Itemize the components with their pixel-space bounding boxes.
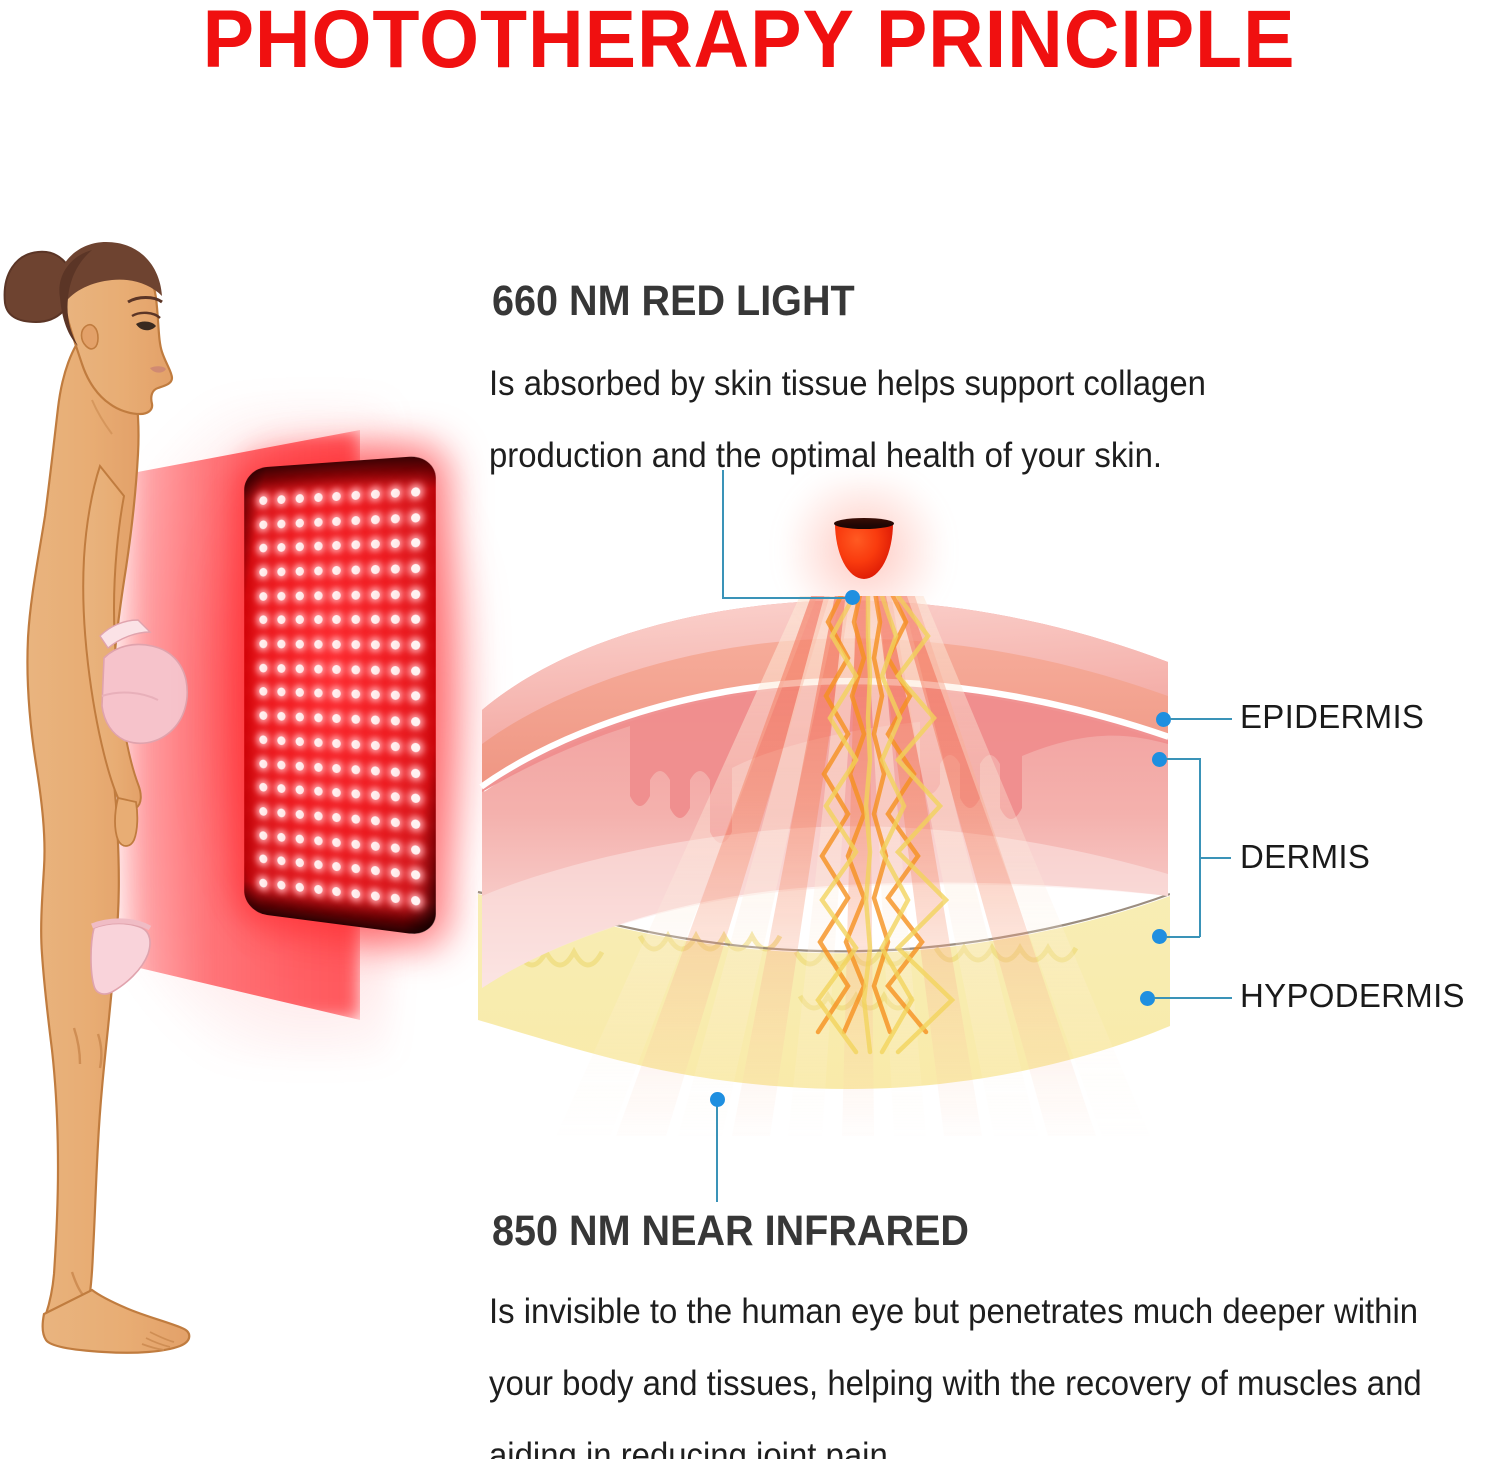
led-dot bbox=[411, 538, 420, 548]
led-dot bbox=[371, 514, 380, 524]
led-dot bbox=[277, 640, 285, 649]
led-dot bbox=[333, 739, 342, 748]
led-dot bbox=[352, 615, 361, 624]
led-dot bbox=[260, 496, 268, 505]
led-dot bbox=[333, 615, 342, 624]
led-dot bbox=[371, 841, 380, 851]
led-dot bbox=[277, 688, 285, 697]
led-dot bbox=[391, 564, 400, 573]
led-dot bbox=[411, 717, 420, 727]
led-dot bbox=[314, 640, 322, 649]
led-dot bbox=[333, 837, 342, 847]
led-dot bbox=[314, 566, 322, 575]
led-dot bbox=[314, 542, 322, 551]
label-hypodermis: HYPODERMIS bbox=[1240, 978, 1465, 1014]
led-dot bbox=[277, 616, 285, 625]
led-dot bbox=[296, 591, 304, 600]
led-dot bbox=[296, 737, 304, 746]
skin-cross-section-diagram bbox=[470, 596, 1170, 1156]
led-dot bbox=[296, 494, 304, 503]
led-dot bbox=[352, 765, 361, 775]
led-dot bbox=[411, 845, 420, 855]
led-dot bbox=[277, 808, 285, 817]
led-dot bbox=[352, 540, 361, 549]
led-dot bbox=[277, 543, 285, 552]
led-dot bbox=[371, 891, 380, 901]
led-dot bbox=[260, 878, 268, 888]
led-dot bbox=[391, 868, 400, 878]
led-dot bbox=[352, 490, 361, 500]
red-light-led-panel bbox=[236, 462, 448, 932]
led-dot bbox=[371, 590, 380, 599]
led-dot bbox=[314, 787, 322, 797]
label-epidermis: EPIDERMIS bbox=[1240, 699, 1424, 735]
led-dot bbox=[391, 615, 400, 624]
led-dot bbox=[371, 741, 380, 751]
led-dot bbox=[391, 590, 400, 599]
led-dot bbox=[333, 763, 342, 773]
led-dot bbox=[296, 688, 304, 697]
paragraph-850nm-near-infrared: Is invisible to the human eye but penetr… bbox=[489, 1276, 1438, 1459]
led-dot bbox=[277, 591, 285, 600]
callout-dot-epidermis bbox=[1156, 712, 1171, 727]
led-dot bbox=[411, 692, 420, 702]
led-dot bbox=[352, 789, 361, 799]
led-dot bbox=[352, 839, 361, 849]
heading-660nm-red-light: 660 NM RED LIGHT bbox=[492, 278, 855, 324]
led-dot bbox=[352, 640, 361, 649]
led-dot bbox=[411, 564, 420, 574]
led-panel-body bbox=[244, 455, 436, 937]
label-dermis: DERMIS bbox=[1240, 839, 1370, 875]
led-dot bbox=[411, 768, 420, 778]
led-dot bbox=[333, 813, 342, 823]
led-dot-grid bbox=[255, 478, 426, 914]
led-dot bbox=[391, 716, 400, 726]
led-dot bbox=[296, 542, 304, 551]
led-dot bbox=[314, 689, 322, 698]
led-dot bbox=[260, 544, 268, 553]
led-dot bbox=[352, 590, 361, 599]
led-dot bbox=[333, 862, 342, 872]
lamp-bowl bbox=[835, 523, 893, 579]
led-dot bbox=[391, 539, 400, 549]
led-dot bbox=[411, 641, 420, 650]
led-dot bbox=[296, 567, 304, 576]
led-dot bbox=[352, 715, 361, 724]
led-dot bbox=[333, 492, 342, 501]
heading-850nm-near-infrared: 850 NM NEAR INFRARED bbox=[492, 1208, 969, 1254]
lamp-icon bbox=[834, 518, 894, 580]
led-dot bbox=[277, 880, 285, 890]
callout-dot-dermis-bottom bbox=[1152, 929, 1167, 944]
led-dot bbox=[260, 759, 268, 768]
led-dot bbox=[260, 568, 268, 577]
led-dot bbox=[411, 666, 420, 675]
led-dot bbox=[260, 663, 268, 672]
led-dot bbox=[352, 864, 361, 874]
led-dot bbox=[260, 687, 268, 696]
led-dot bbox=[411, 896, 420, 906]
leader-line-dermis-bottom bbox=[1166, 936, 1200, 938]
led-dot bbox=[391, 742, 400, 752]
led-dot bbox=[314, 493, 322, 502]
led-dot bbox=[296, 810, 304, 820]
led-dot bbox=[391, 843, 400, 853]
led-dot bbox=[371, 816, 380, 826]
leader-line-dermis-stub bbox=[1199, 857, 1231, 859]
led-dot bbox=[391, 767, 400, 777]
led-dot bbox=[352, 665, 361, 674]
callout-dot-dermis-top bbox=[1152, 752, 1167, 767]
leader-line-hypodermis bbox=[1154, 997, 1232, 999]
leader-line-660nm-horizontal bbox=[722, 597, 852, 599]
led-dot bbox=[314, 738, 322, 747]
led-dot bbox=[260, 592, 268, 601]
led-dot bbox=[371, 690, 380, 699]
led-dot bbox=[314, 615, 322, 624]
led-dot bbox=[411, 487, 420, 497]
led-dot bbox=[260, 711, 268, 720]
led-dot bbox=[333, 541, 342, 550]
phototherapy-principle-infographic: PHOTOTHERAPY PRINCIPLE bbox=[0, 0, 1498, 1459]
led-dot bbox=[391, 513, 400, 523]
led-dot bbox=[333, 640, 342, 649]
led-dot bbox=[411, 870, 420, 880]
led-dot bbox=[371, 766, 380, 776]
led-dot bbox=[352, 814, 361, 824]
led-dot bbox=[333, 689, 342, 698]
leader-line-epidermis bbox=[1170, 718, 1232, 720]
led-dot bbox=[333, 566, 342, 575]
led-dot bbox=[314, 860, 322, 870]
led-dot bbox=[411, 513, 420, 523]
lamp-rim bbox=[834, 518, 894, 529]
led-dot bbox=[277, 567, 285, 576]
led-dot bbox=[277, 784, 285, 793]
callout-dot-hypodermis bbox=[1140, 991, 1155, 1006]
led-dot bbox=[333, 591, 342, 600]
led-dot bbox=[296, 883, 304, 893]
led-dot bbox=[296, 616, 304, 625]
led-dot bbox=[391, 792, 400, 802]
led-dot bbox=[333, 788, 342, 798]
leader-line-850nm-vertical bbox=[716, 1102, 718, 1202]
led-dot bbox=[371, 665, 380, 674]
led-dot bbox=[391, 817, 400, 827]
led-dot bbox=[296, 664, 304, 673]
led-dot bbox=[371, 489, 380, 499]
led-dot bbox=[352, 515, 361, 524]
led-dot bbox=[314, 517, 322, 526]
callout-dot-660nm bbox=[845, 590, 860, 605]
led-dot bbox=[260, 855, 268, 865]
led-dot bbox=[391, 488, 400, 498]
led-dot bbox=[411, 615, 420, 624]
led-dot bbox=[296, 518, 304, 527]
led-dot bbox=[391, 666, 400, 675]
led-dot bbox=[260, 640, 268, 649]
led-dot bbox=[260, 616, 268, 625]
led-dot bbox=[352, 740, 361, 750]
led-dot bbox=[352, 690, 361, 699]
led-dot bbox=[411, 589, 420, 598]
led-dot bbox=[371, 716, 380, 726]
led-dot bbox=[371, 640, 380, 649]
led-dot bbox=[371, 615, 380, 624]
led-dot bbox=[371, 791, 380, 801]
led-dot bbox=[371, 540, 380, 549]
led-dot bbox=[277, 760, 285, 769]
led-dot bbox=[333, 887, 342, 897]
led-dot bbox=[391, 640, 400, 649]
led-dot bbox=[296, 834, 304, 844]
led-dot bbox=[260, 520, 268, 529]
led-dot bbox=[296, 785, 304, 794]
led-dot bbox=[333, 714, 342, 723]
led-dot bbox=[314, 762, 322, 771]
led-dot bbox=[296, 713, 304, 722]
led-dot bbox=[260, 735, 268, 744]
led-dot bbox=[314, 664, 322, 673]
led-dot bbox=[391, 691, 400, 701]
led-dot bbox=[411, 794, 420, 804]
led-dot bbox=[277, 664, 285, 673]
led-dot bbox=[296, 640, 304, 649]
led-dot bbox=[277, 712, 285, 721]
led-dot bbox=[277, 495, 285, 504]
led-dot bbox=[277, 736, 285, 745]
led-dot bbox=[260, 831, 268, 840]
led-dot bbox=[260, 783, 268, 792]
led-dot bbox=[277, 519, 285, 528]
led-dot bbox=[277, 856, 285, 866]
led-dot bbox=[333, 516, 342, 525]
led-dot bbox=[371, 866, 380, 876]
led-dot bbox=[296, 761, 304, 770]
led-dot bbox=[296, 858, 304, 868]
paragraph-660nm-red-light: Is absorbed by skin tissue helps support… bbox=[489, 348, 1316, 492]
led-dot bbox=[314, 811, 322, 821]
led-dot bbox=[314, 591, 322, 600]
led-dot bbox=[411, 743, 420, 753]
led-dot bbox=[314, 713, 322, 722]
leader-line-dermis-top bbox=[1166, 758, 1200, 760]
led-dot bbox=[314, 836, 322, 846]
leader-line-660nm-vertical bbox=[722, 470, 724, 598]
led-dot bbox=[333, 665, 342, 674]
led-dot bbox=[352, 565, 361, 574]
led-dot bbox=[260, 807, 268, 816]
led-dot bbox=[411, 819, 420, 829]
page-title: PHOTOTHERAPY PRINCIPLE bbox=[45, 0, 1453, 82]
callout-dot-850nm bbox=[710, 1092, 725, 1107]
led-dot bbox=[277, 832, 285, 842]
led-dot bbox=[371, 565, 380, 574]
leader-line-dermis-spine bbox=[1199, 758, 1201, 937]
led-dot bbox=[314, 885, 322, 895]
led-dot bbox=[352, 889, 361, 899]
led-dot bbox=[391, 893, 400, 903]
